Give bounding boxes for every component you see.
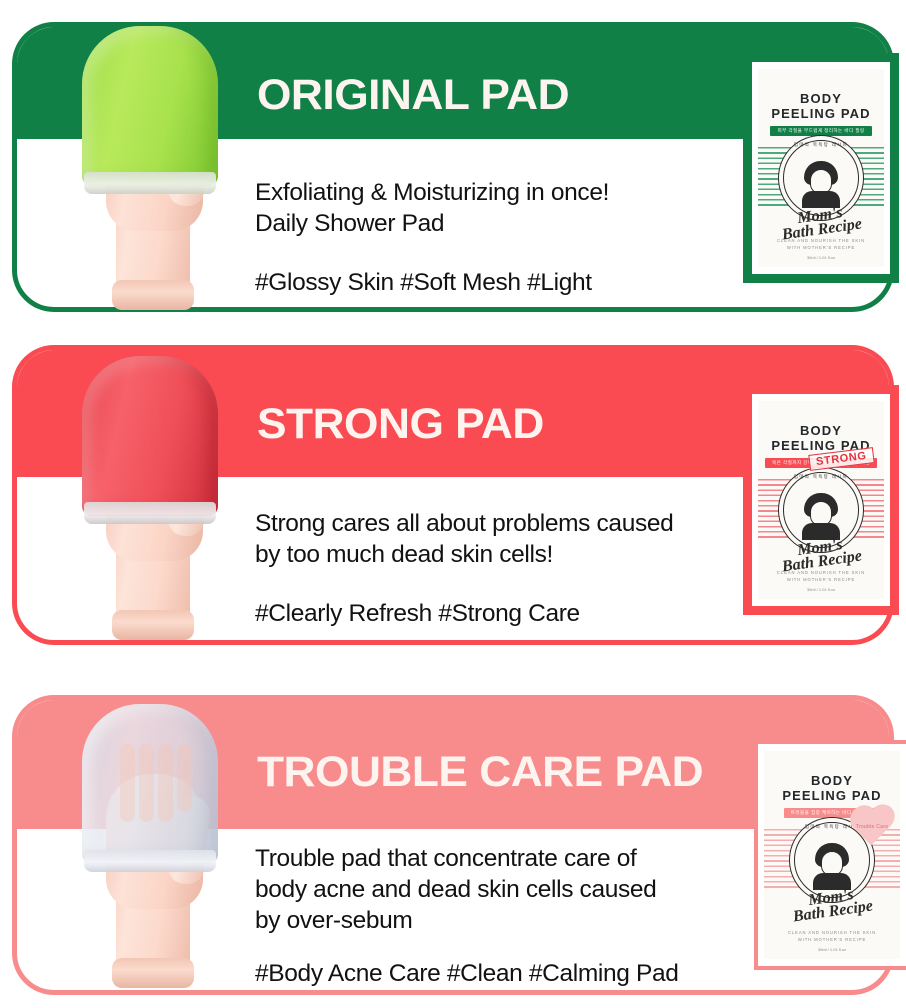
product-package-box: BODY PEELING PAD 피부 각질을 부드럽게 정리하는 바디 필링 … [743,53,899,283]
package-volume: 30ml / 1.01 fl.oz [764,947,900,952]
package-face: BODY PEELING PAD 피부 각질을 부드럽게 정리하는 바디 필링 … [758,69,884,267]
logo-korean-text: 엄마의 목욕탕 레시피 [778,474,864,480]
card-copy-line: Exfoliating & Moisturizing in once! [255,177,725,208]
logo-script-line2: Bath Recipe [792,899,874,924]
card-copy-block: Trouble pad that concentrate care of bod… [255,843,725,989]
card-title: STRONG PAD [257,403,544,446]
card-copy-line: by too much dead skin cells! [255,539,725,570]
card-copy-line: Strong cares all about problems caused [255,508,725,539]
package-footer-line1: CLEAN AND NOURISH THE SKIN [788,930,876,935]
card-copy-line: by over-sebum [255,905,725,936]
package-footer-text: CLEAN AND NOURISH THE SKIN WITH MOTHER'S… [758,569,884,583]
card-copy-line: Trouble pad that concentrate care of [255,843,725,874]
package-title-line2: PEELING PAD [782,788,881,803]
card-copy-block: Strong cares all about problems caused b… [255,508,725,629]
logo-woman-face-icon [801,161,841,207]
package-footer-line2: WITH MOTHER'S RECIPE [787,577,855,582]
product-package-box: BODY PEELING PAD 트러블을 집중 케어하는 바디 필링 패드 T… [754,740,906,970]
package-logo: 엄마의 목욕탕 레시피 Mom's Bath Recipe [778,135,864,221]
spacer [255,936,725,958]
product-card-original-pad: ORIGINAL PAD Exfoliating & Moisturizing … [12,22,894,312]
product-comparison-board: ORIGINAL PAD Exfoliating & Moisturizing … [0,0,906,1008]
package-footer-text: CLEAN AND NOURISH THE SKIN WITH MOTHER'S… [758,237,884,251]
package-face: BODY PEELING PAD 트러블을 집중 케어하는 바디 필링 패드 T… [764,751,900,959]
card-copy-block: Exfoliating & Moisturizing in once! Dail… [255,177,725,298]
package-footer-line2: WITH MOTHER'S RECIPE [798,937,866,942]
package-footer-line1: CLEAN AND NOURISH THE SKIN [777,570,865,575]
product-package-box: BODY PEELING PAD 묵은 각질까지 강력하게 정리해 주는 바디 … [743,385,899,615]
card-copy-line: Daily Shower Pad [255,208,725,239]
package-title-line2: PEELING PAD [771,106,870,121]
package-footer-line1: CLEAN AND NOURISH THE SKIN [777,238,865,243]
package-volume: 30ml / 1.01 fl.oz [758,587,884,592]
card-title: TROUBLE CARE PAD [257,751,703,794]
package-face: BODY PEELING PAD 묵은 각질까지 강력하게 정리해 주는 바디 … [758,401,884,599]
logo-korean-text: 엄마의 목욕탕 레시피 [778,142,864,148]
card-hashtags: #Glossy Skin #Soft Mesh #Light [255,267,725,298]
package-title-line1: BODY [811,773,853,788]
logo-woman-face-icon [801,493,841,539]
package-footer-text: CLEAN AND NOURISH THE SKIN WITH MOTHER'S… [764,929,900,943]
spacer [255,239,725,267]
package-title-line1: BODY [800,91,842,106]
card-hashtags: #Clearly Refresh #Strong Care [255,598,725,629]
package-title: BODY PEELING PAD [771,91,870,121]
heart-badge-label: Trouble Care [850,807,894,847]
package-title-line1: BODY [800,423,842,438]
card-title: ORIGINAL PAD [257,74,569,117]
logo-woman-face-icon [812,843,852,889]
spacer [255,570,725,598]
product-card-strong-pad: STRONG PAD Strong cares all about proble… [12,345,894,645]
product-card-trouble-care-pad: TROUBLE CARE PAD Trouble pad that concen… [12,695,894,995]
package-trouble-care-heart-badge: Trouble Care [850,807,894,847]
package-volume: 30ml / 1.01 fl.oz [758,255,884,260]
package-title: BODY PEELING PAD [782,773,881,803]
card-copy-line: body acne and dead skin cells caused [255,874,725,905]
card-hashtags: #Body Acne Care #Clean #Calming Pad [255,958,725,989]
package-footer-line2: WITH MOTHER'S RECIPE [787,245,855,250]
package-logo: 엄마의 목욕탕 레시피 Mom's Bath Recipe [778,467,864,553]
